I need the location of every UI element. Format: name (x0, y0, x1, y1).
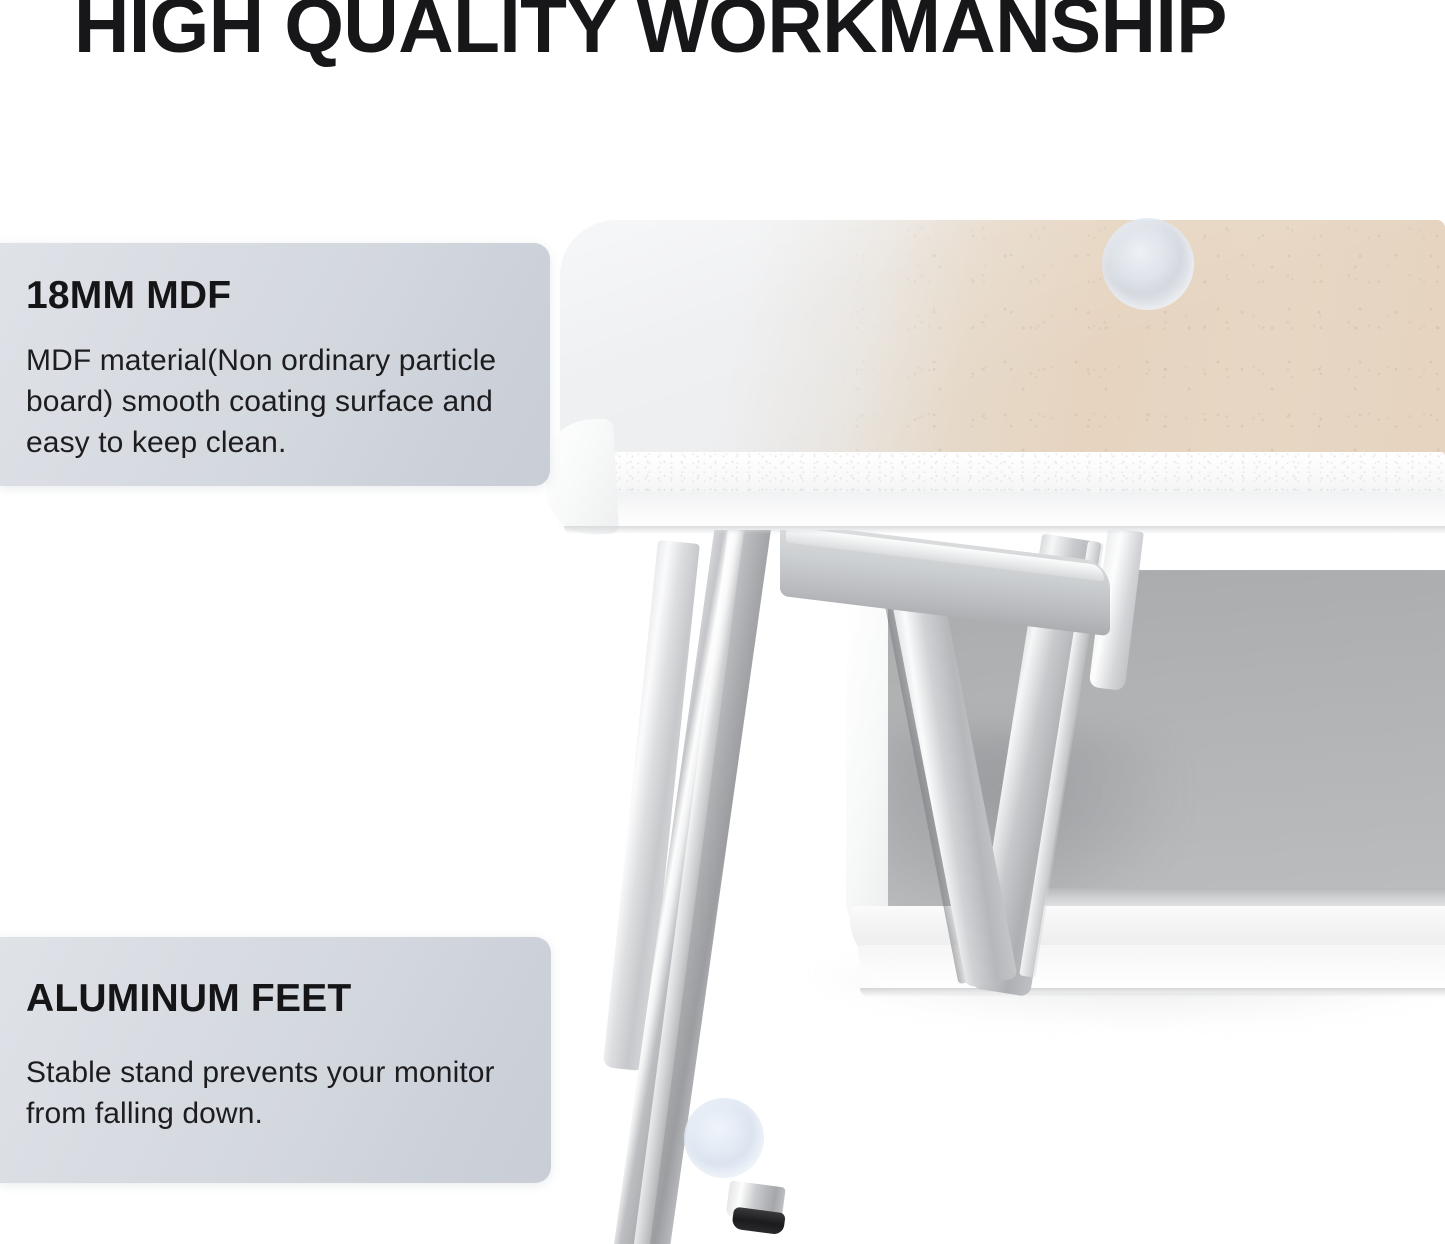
callout-mdf-body: MDF material(Non ordinary particle board… (26, 340, 546, 463)
callout-aluminum-feet: ALUMINUM FEET Stable stand prevents your… (0, 937, 551, 1183)
bokeh-highlight-foot-icon (684, 1098, 764, 1178)
lower-shelf-left-face (846, 600, 888, 944)
bokeh-highlight-top-shelf-icon (1102, 218, 1194, 310)
top-shelf-light-sheen (560, 220, 1445, 468)
top-shelf-under-shadow (564, 526, 1445, 534)
callout-aluminum-feet-body: Stable stand prevents your monitor from … (26, 1052, 546, 1134)
lower-shelf-bottom-shadow (860, 988, 1445, 997)
product-feature-image: HIGH QUALITY WORKMANSHIP (0, 0, 1445, 1244)
callout-mdf: 18MM MDF MDF material(Non ordinary parti… (0, 243, 550, 486)
top-shelf-left-corner (543, 418, 619, 537)
page-title: HIGH QUALITY WORKMANSHIP (74, 0, 1377, 65)
top-shelf-edge-lower (558, 492, 1445, 530)
callout-aluminum-feet-title: ALUMINUM FEET (26, 979, 351, 1018)
callout-mdf-title: 18MM MDF (26, 276, 231, 315)
lower-shelf-edge-lower (858, 945, 1445, 993)
product-photo (480, 170, 1445, 1244)
